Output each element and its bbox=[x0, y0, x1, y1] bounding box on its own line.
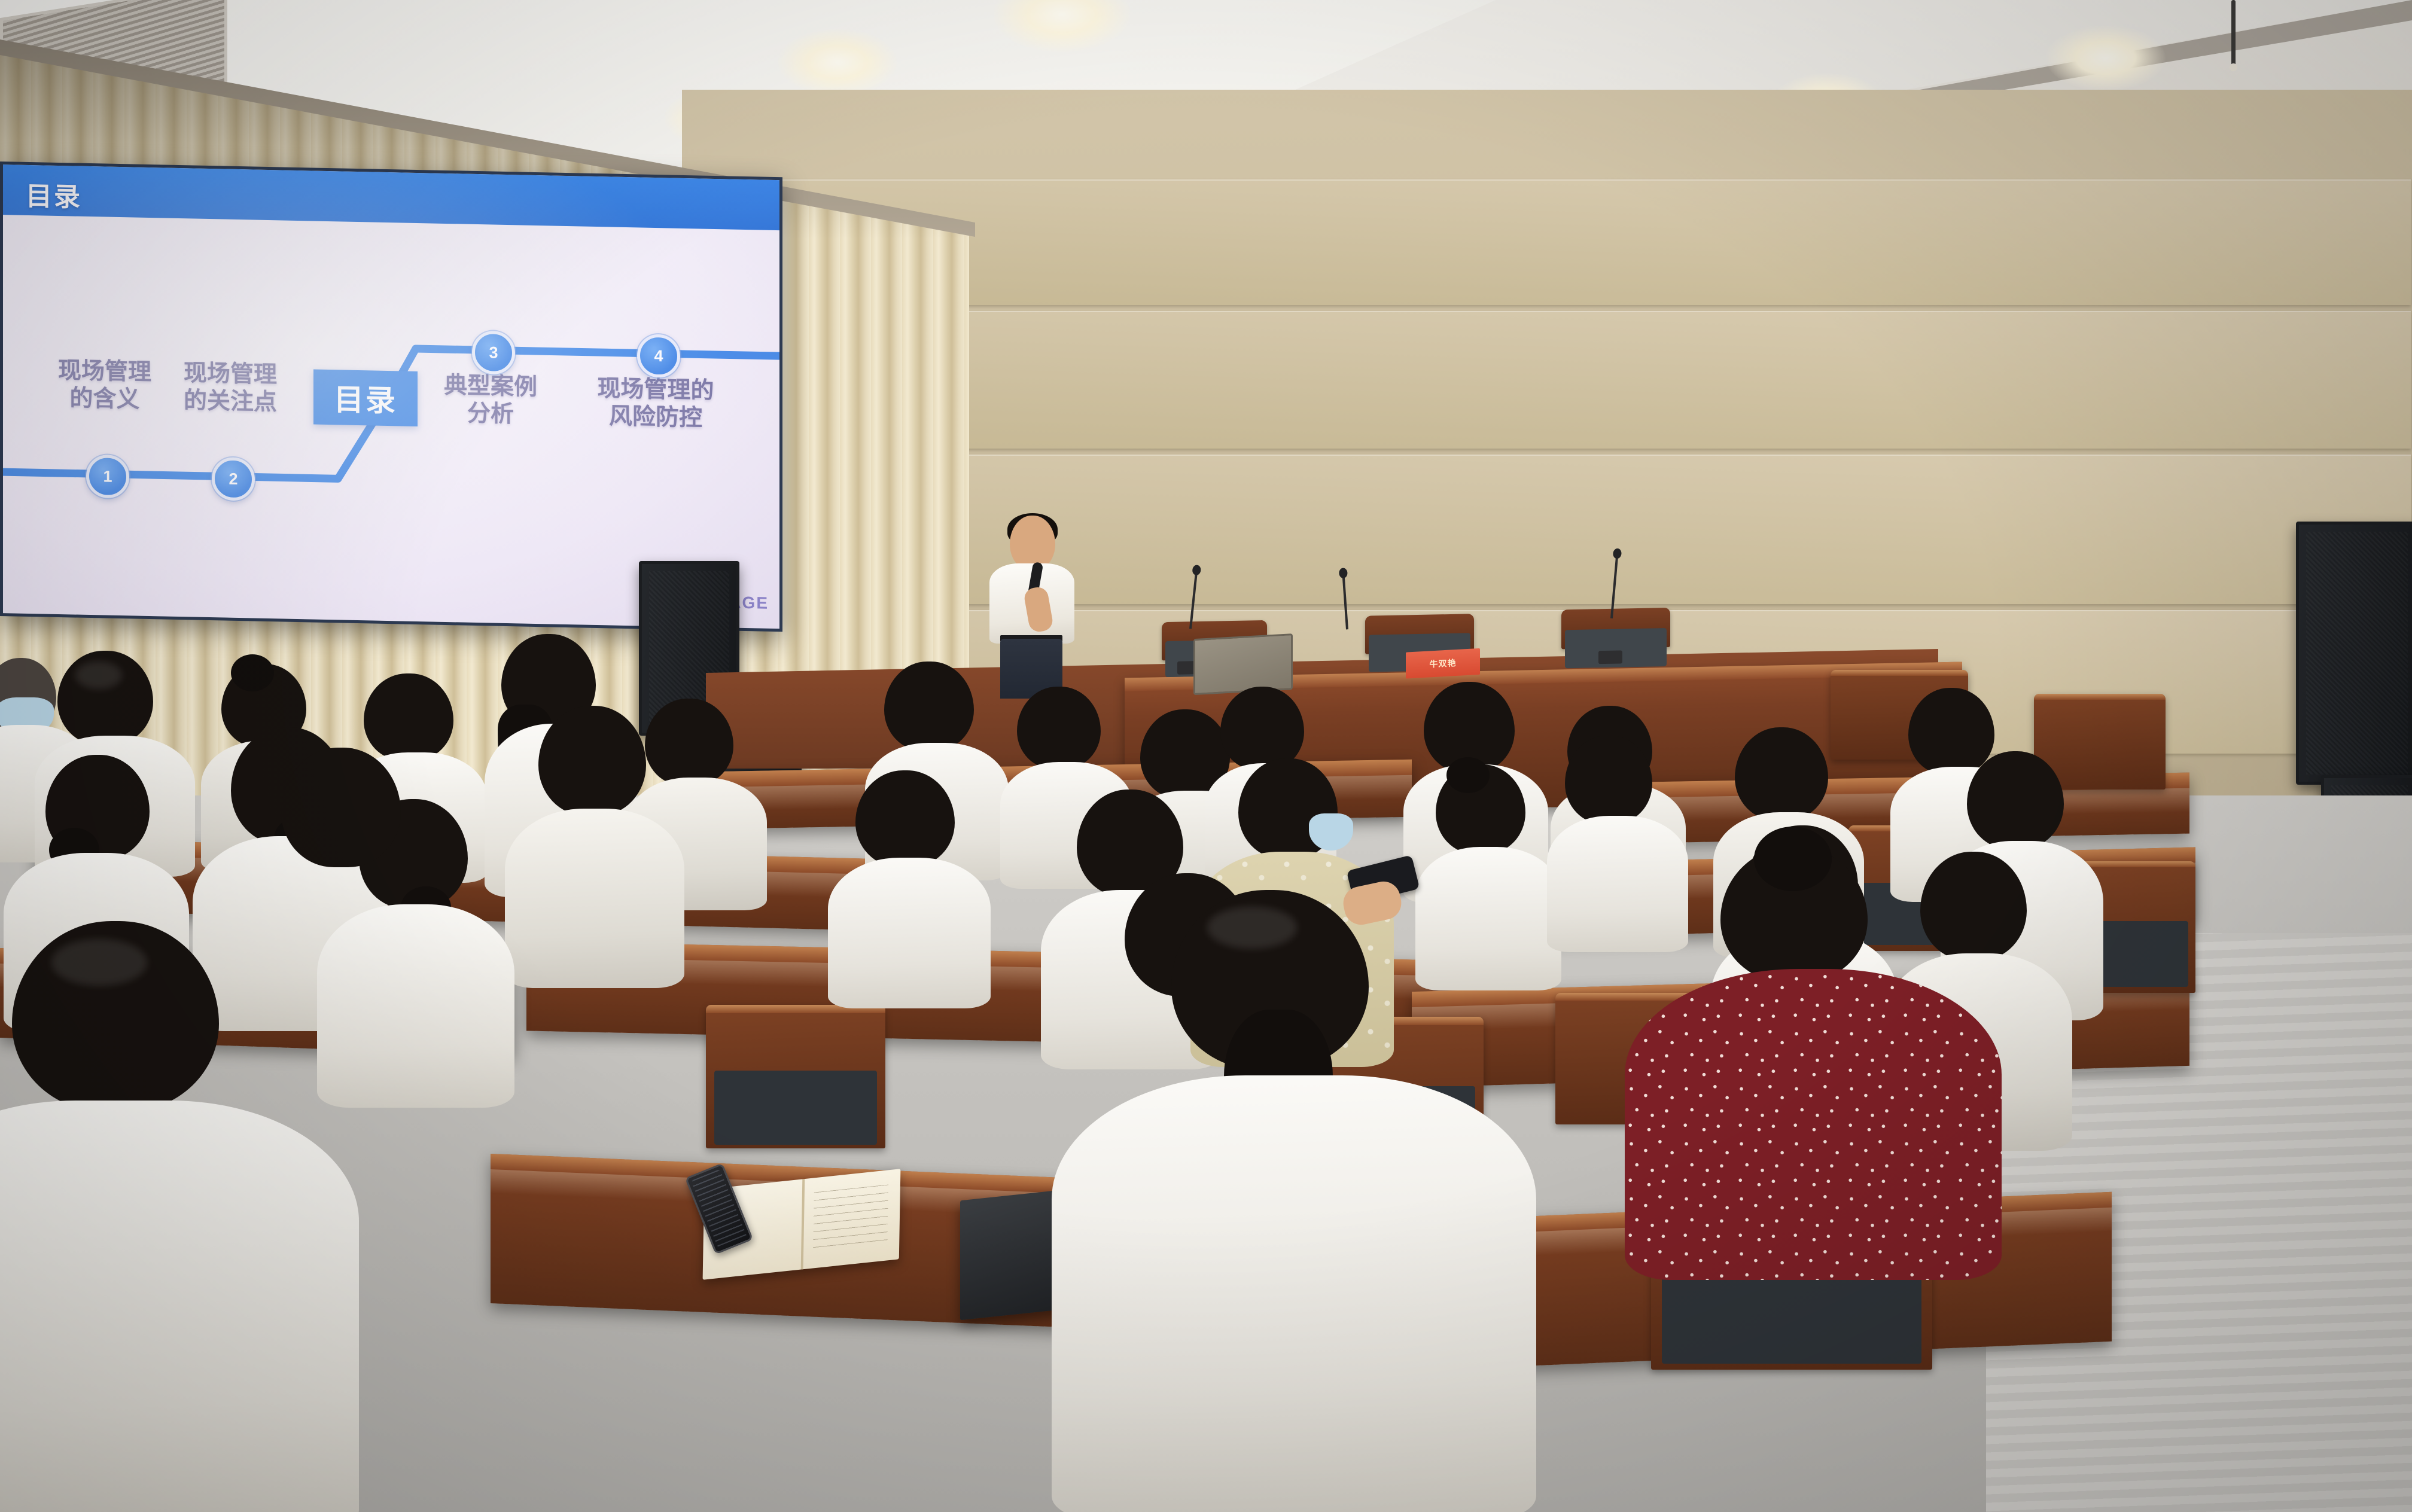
wall-panel bbox=[724, 311, 2411, 449]
audience-head bbox=[1565, 736, 1652, 824]
conference-room-photo: 目录 现场管理 的含义 1 现场管理 的关注点 2 bbox=[0, 0, 2412, 1512]
hair-bun bbox=[1446, 757, 1490, 793]
audience-chair bbox=[706, 1005, 885, 1148]
audience-body bbox=[1052, 1075, 1536, 1512]
slide-surface: 目录 现场管理 的含义 1 现场管理 的关注点 2 bbox=[3, 164, 779, 629]
audience-head bbox=[1967, 751, 2064, 849]
audience-head bbox=[281, 748, 401, 867]
toc-item-2-label: 现场管理 的关注点 bbox=[162, 359, 299, 417]
audience-body bbox=[317, 904, 514, 1108]
ceiling-downlight bbox=[2046, 25, 2166, 91]
audience-head bbox=[538, 706, 646, 816]
microphone-base bbox=[1598, 650, 1622, 664]
audience-head bbox=[1735, 727, 1828, 821]
right-loudspeaker bbox=[2296, 522, 2412, 785]
toc-node-4: 4 bbox=[637, 334, 680, 377]
hair-bun bbox=[1754, 827, 1832, 891]
audience-body-floral bbox=[1625, 969, 2002, 1280]
notebook-written-lines bbox=[813, 1184, 888, 1248]
nameplate: 牛双艳 bbox=[1406, 648, 1480, 679]
audience-head bbox=[1920, 852, 2027, 961]
ceiling-downlight bbox=[778, 29, 897, 96]
pendant-light-icon bbox=[2231, 0, 2236, 66]
audience-head bbox=[1908, 688, 1994, 775]
audience-body bbox=[1547, 816, 1688, 952]
audience-body bbox=[0, 1101, 359, 1512]
audience-head bbox=[364, 673, 453, 761]
presenter-head bbox=[1010, 516, 1055, 571]
hair-bun bbox=[231, 654, 274, 691]
audience-head bbox=[645, 699, 733, 786]
audience-body bbox=[1415, 847, 1561, 990]
laptop bbox=[1193, 633, 1293, 695]
toc-node-2: 2 bbox=[212, 457, 255, 501]
toc-item-4-label: 现场管理的 风险防控 bbox=[577, 374, 734, 432]
wall-panel bbox=[724, 179, 2411, 305]
audience-head bbox=[1017, 687, 1101, 769]
audience-head bbox=[884, 661, 974, 751]
presenter bbox=[979, 516, 1084, 695]
audience-head bbox=[855, 770, 955, 867]
toc-node-1: 1 bbox=[86, 455, 129, 498]
toc-item-3-label: 典型案例 分析 bbox=[422, 371, 559, 429]
toc-center-badge: 目录 bbox=[313, 370, 418, 426]
audience-head bbox=[1220, 687, 1304, 770]
toc-item-1-label: 现场管理 的含义 bbox=[36, 356, 173, 414]
audience-body bbox=[505, 809, 684, 988]
slide-header-title: 目录 bbox=[26, 175, 82, 214]
audience-body bbox=[828, 858, 991, 1008]
notebook-spine bbox=[801, 1179, 805, 1270]
wall-panel bbox=[724, 455, 2411, 604]
toc-node-3: 3 bbox=[472, 331, 515, 374]
